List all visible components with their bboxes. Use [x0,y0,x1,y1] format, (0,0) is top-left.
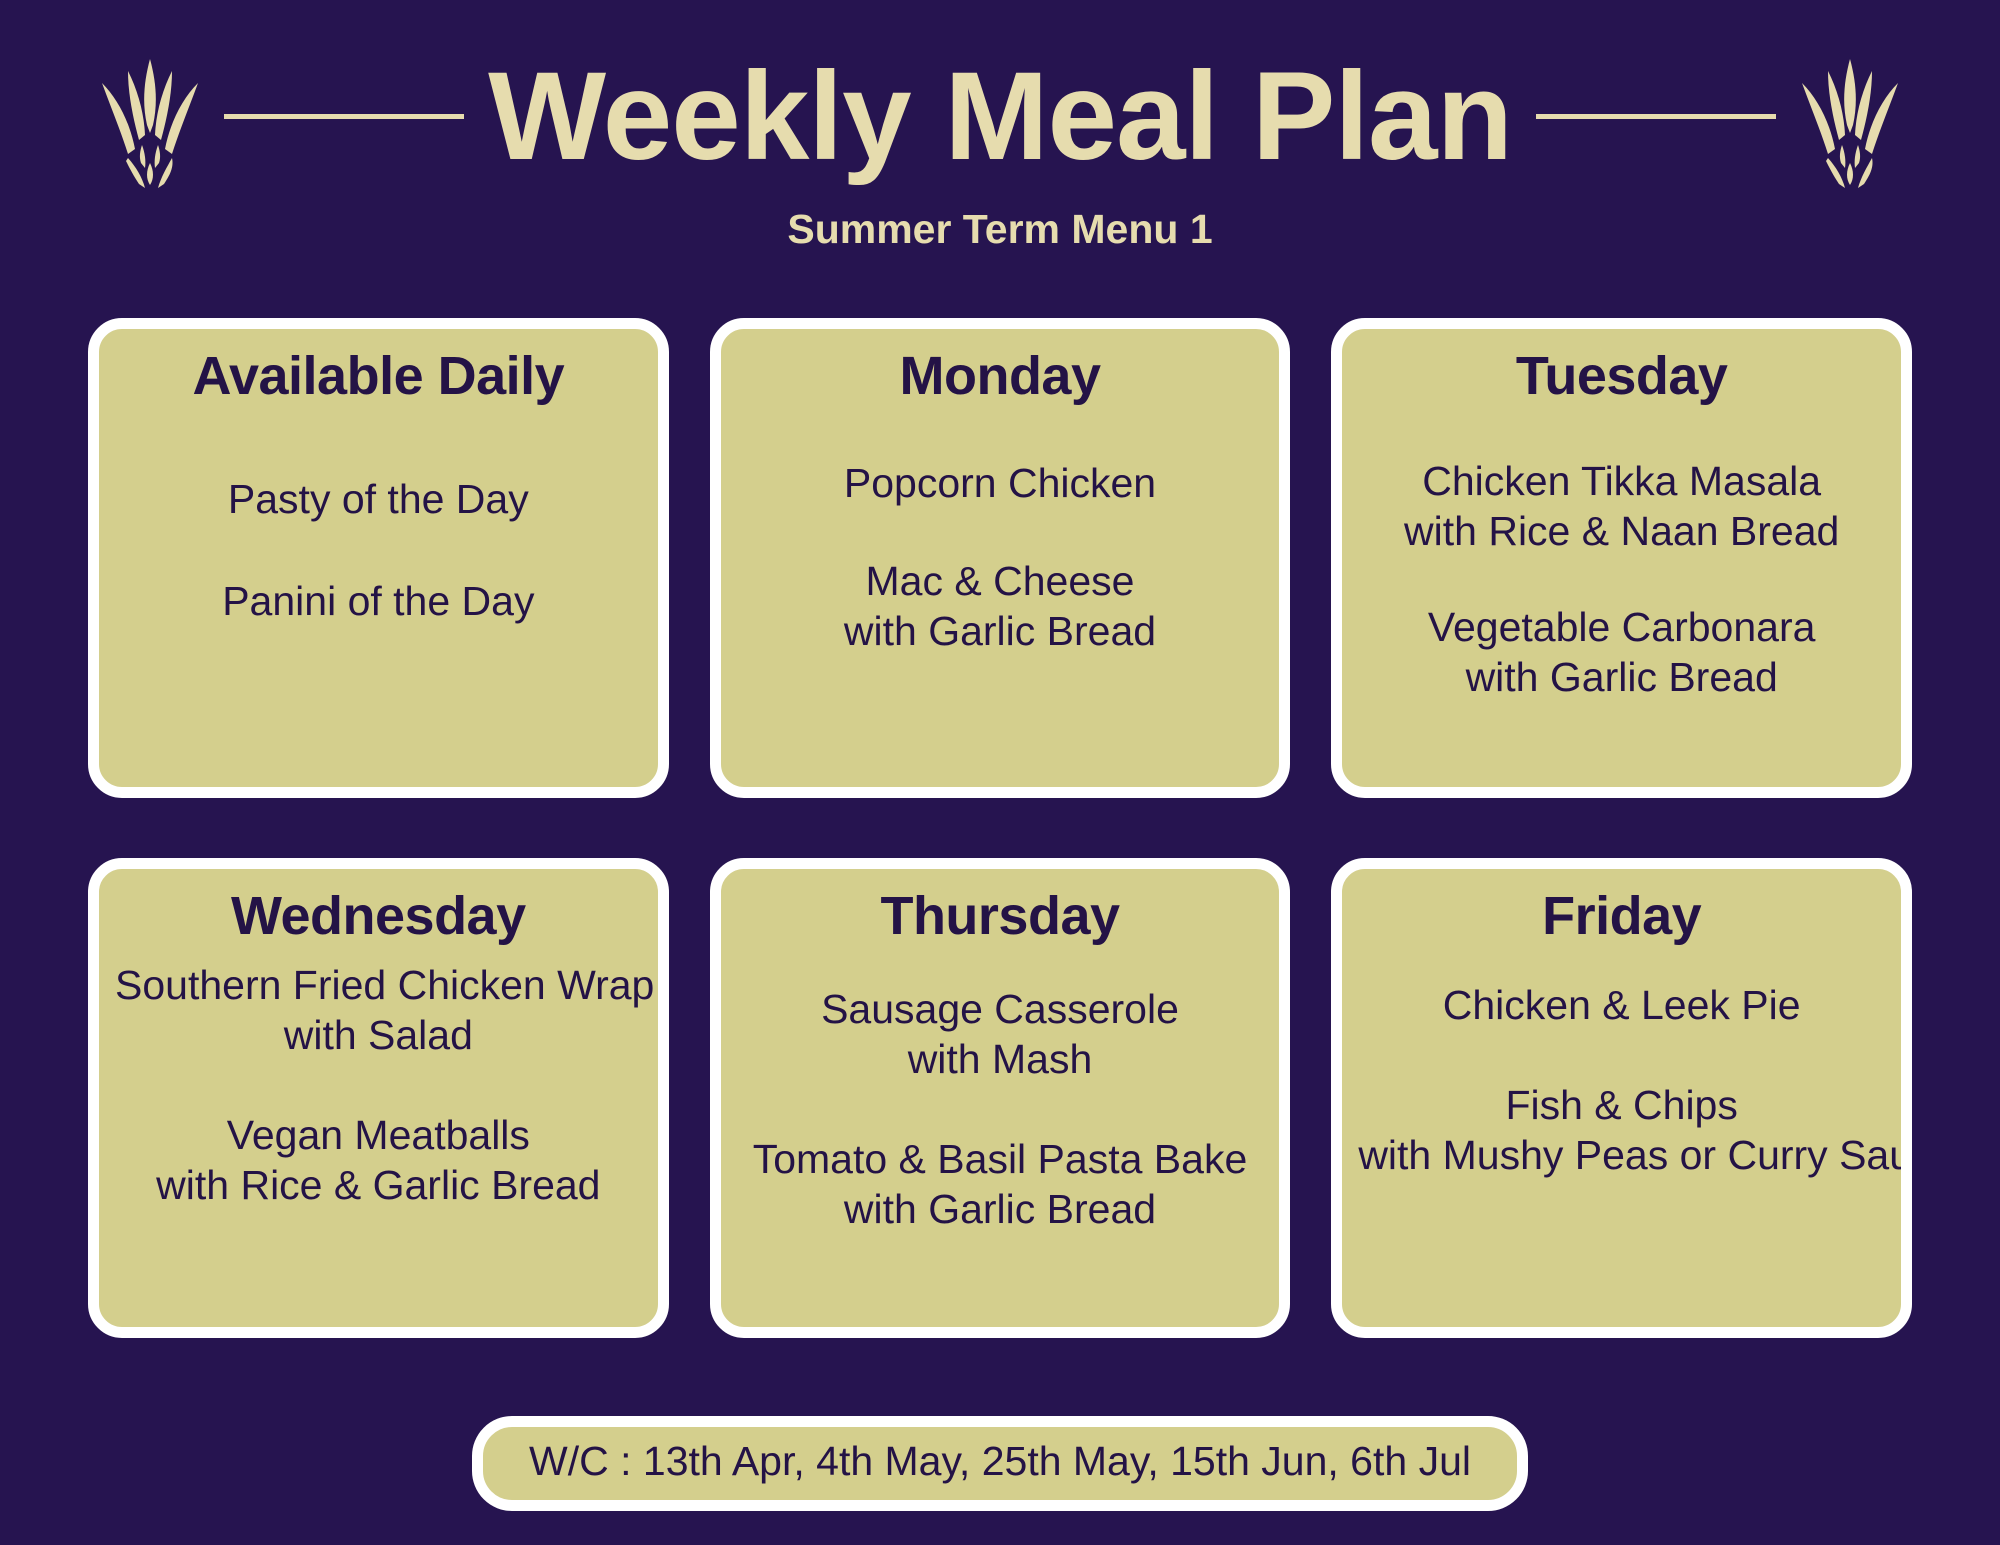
meal-line: with Garlic Bread [1358,652,1885,702]
meal-plan-poster: Weekly Meal Plan [0,0,2000,1545]
meal-line: Vegan Meatballs [115,1110,642,1160]
menu-card-grid: Available Daily Pasty of the Day Panini … [88,318,1912,1338]
footer-wrap: W/C : 13th Apr, 4th May, 25th May, 15th … [0,1416,2000,1511]
meal-line: Sausage Casserole [737,984,1264,1034]
meal-line: with Rice & Naan Bread [1358,506,1885,556]
meal-line: Pasty of the Day [115,474,642,524]
menu-card-available-daily: Available Daily Pasty of the Day Panini … [88,318,669,798]
card-body: Chicken & Leek Pie Fish & Chips with Mus… [1358,956,1885,1311]
card-title: Available Daily [192,347,564,406]
meal-line: Vegetable Carbonara [1358,602,1885,652]
card-title: Thursday [880,887,1119,946]
meal-item: Tomato & Basil Pasta Bake with Garlic Br… [737,1134,1264,1234]
menu-card-thursday: Thursday Sausage Casserole with Mash Tom… [710,858,1291,1338]
meal-line: Tomato & Basil Pasta Bake [737,1134,1264,1184]
card-title: Monday [899,347,1100,406]
meal-item: Chicken Tikka Masala with Rice & Naan Br… [1358,456,1885,556]
meal-item: Southern Fried Chicken Wrap with Salad [115,960,642,1060]
card-body: Pasty of the Day Panini of the Day [115,416,642,771]
title-rule-right [1536,114,1776,119]
meal-line: with Rice & Garlic Bread [115,1160,642,1210]
meal-item: Vegan Meatballs with Rice & Garlic Bread [115,1110,642,1210]
meal-line: Southern Fried Chicken Wrap [115,960,642,1010]
menu-card-monday: Monday Popcorn Chicken Mac & Cheese with… [710,318,1291,798]
menu-card-friday: Friday Chicken & Leek Pie Fish & Chips w… [1331,858,1912,1338]
meal-line: with Garlic Bread [737,606,1264,656]
meal-line: with Mash [737,1034,1264,1084]
meal-line: Fish & Chips [1358,1080,1885,1130]
palmette-ornament-icon [1790,41,1910,191]
week-commencing-banner: W/C : 13th Apr, 4th May, 25th May, 15th … [472,1416,1528,1511]
title-rule-left [224,114,464,119]
card-body: Southern Fried Chicken Wrap with Salad V… [115,956,642,1311]
meal-line: with Mushy Peas or Curry Sauce [1358,1130,1885,1180]
menu-card-wednesday: Wednesday Southern Fried Chicken Wrap wi… [88,858,669,1338]
meal-item: Sausage Casserole with Mash [737,984,1264,1084]
meal-item: Mac & Cheese with Garlic Bread [737,556,1264,656]
meal-item: Popcorn Chicken [737,458,1264,508]
card-title: Tuesday [1516,347,1728,406]
card-title: Wednesday [231,887,526,946]
meal-item: Fish & Chips with Mushy Peas or Curry Sa… [1358,1080,1885,1180]
meal-line: Mac & Cheese [737,556,1264,606]
meal-line: Chicken & Leek Pie [1358,980,1885,1030]
meal-item: Chicken & Leek Pie [1358,980,1885,1030]
card-title: Friday [1542,887,1701,946]
meal-line: Chicken Tikka Masala [1358,456,1885,506]
palmette-ornament-icon [90,41,210,191]
meal-line: Popcorn Chicken [737,458,1264,508]
meal-line: Panini of the Day [115,576,642,626]
page-subtitle: Summer Term Menu 1 [0,206,2000,253]
card-body: Chicken Tikka Masala with Rice & Naan Br… [1358,416,1885,771]
title-row: Weekly Meal Plan [0,46,2000,186]
meal-item: Pasty of the Day [115,474,642,524]
meal-item: Vegetable Carbonara with Garlic Bread [1358,602,1885,702]
meal-line: with Salad [115,1010,642,1060]
poster-header: Weekly Meal Plan [0,0,2000,253]
card-body: Popcorn Chicken Mac & Cheese with Garlic… [737,416,1264,771]
card-body: Sausage Casserole with Mash Tomato & Bas… [737,956,1264,1311]
menu-card-tuesday: Tuesday Chicken Tikka Masala with Rice &… [1331,318,1912,798]
page-title: Weekly Meal Plan [478,54,1522,179]
meal-line: with Garlic Bread [737,1184,1264,1234]
meal-item: Panini of the Day [115,576,642,626]
